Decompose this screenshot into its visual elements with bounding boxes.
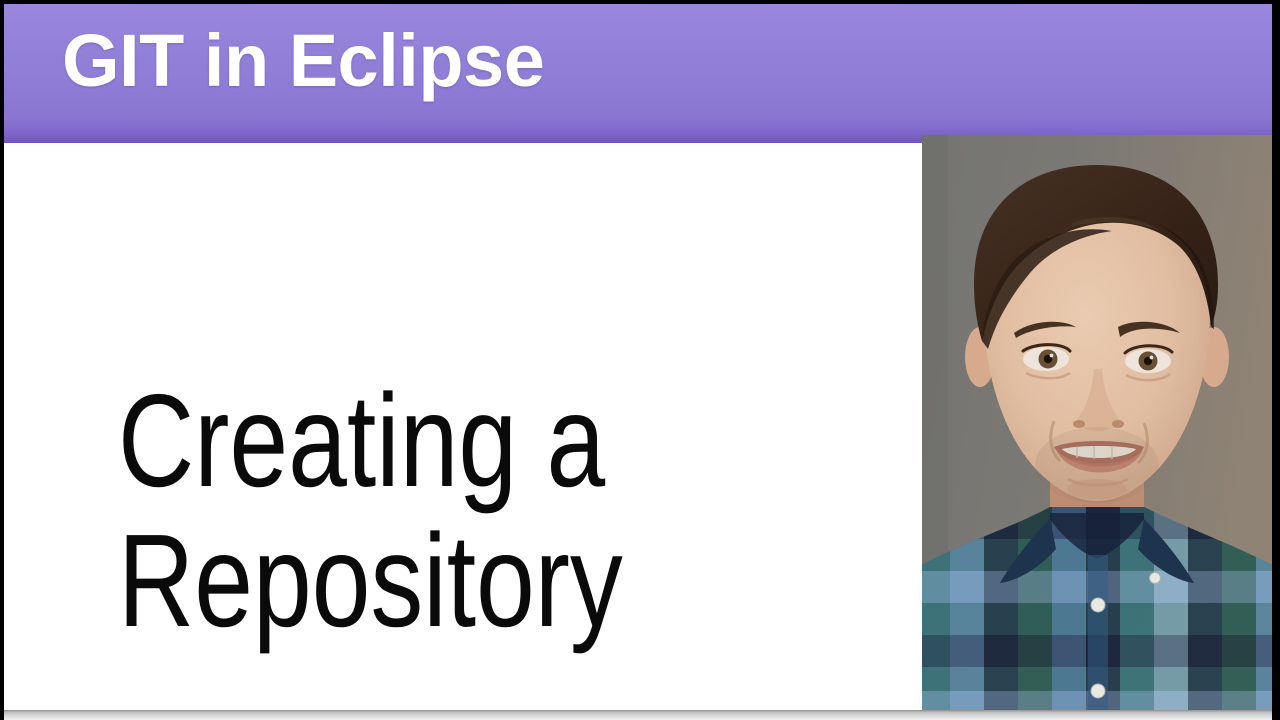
slide-title-line-1: Creating a	[118, 375, 605, 507]
banner-title: GIT in Eclipse	[62, 24, 544, 98]
slide: GIT in Eclipse Creating a Repository by …	[0, 0, 1280, 720]
bottom-strip	[4, 710, 1272, 720]
content-panel: Creating a Repository by Dr. Brian Frase…	[4, 143, 922, 710]
presenter-photo-image	[922, 135, 1272, 720]
title-banner: GIT in Eclipse	[4, 4, 1272, 143]
slide-title-line-2: Repository	[118, 515, 623, 647]
presenter-photo	[922, 135, 1272, 720]
